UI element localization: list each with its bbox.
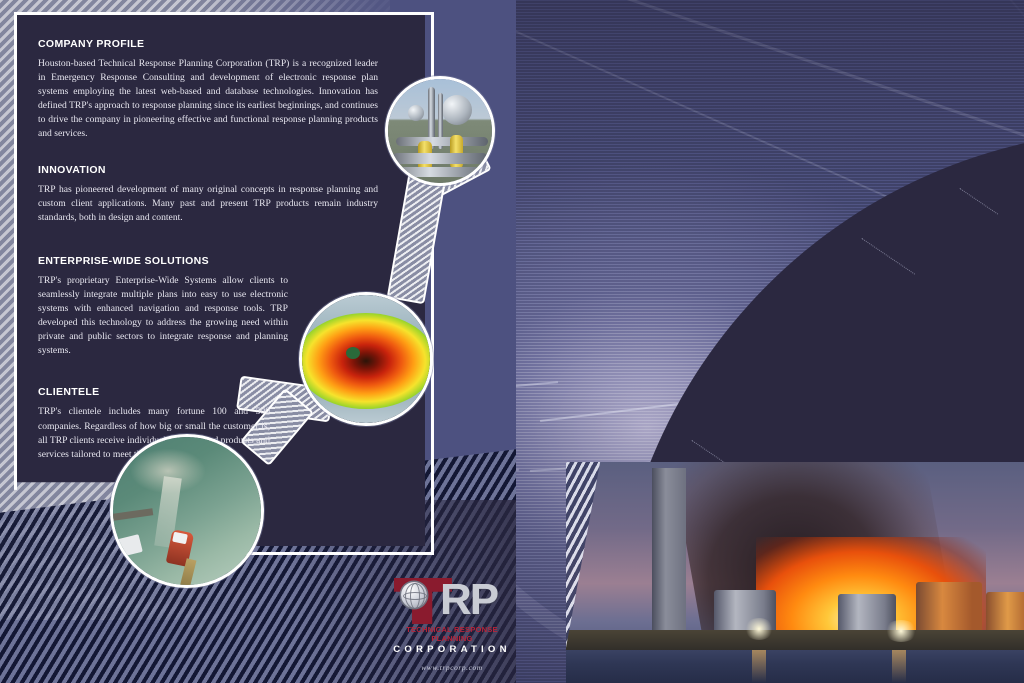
section-company-profile: COMPANY PROFILE Houston-based Technical … bbox=[38, 38, 378, 142]
shore-light-1 bbox=[744, 618, 774, 640]
photo-circle-hurricane-satellite bbox=[299, 292, 433, 426]
section-heading: ENTERPRISE-WIDE SOLUTIONS bbox=[38, 255, 378, 267]
section-body: TRP has pioneered development of many or… bbox=[38, 183, 378, 225]
section-innovation: INNOVATION TRP has pioneered development… bbox=[38, 164, 378, 225]
storm-eye bbox=[346, 347, 360, 359]
fire-water bbox=[566, 650, 1024, 683]
section-body: Houston-based Technical Response Plannin… bbox=[38, 57, 378, 142]
fire-process-tower bbox=[652, 468, 686, 633]
storm-radar-core bbox=[299, 313, 433, 409]
brochure-page: COMPANY PROFILE Houston-based Technical … bbox=[0, 0, 1024, 683]
shore-light-2 bbox=[884, 620, 918, 642]
dock-pier bbox=[113, 508, 154, 520]
logo-corporation: CORPORATION bbox=[388, 644, 516, 655]
horizontal-pipe-1 bbox=[396, 137, 488, 146]
section-heading: COMPANY PROFILE bbox=[38, 38, 378, 50]
logo-letters-rp: RP bbox=[440, 577, 497, 623]
photo-tank-farm-fire bbox=[566, 462, 1024, 683]
storage-sphere-2 bbox=[408, 105, 424, 121]
moored-boat bbox=[113, 534, 143, 558]
storage-tank-4 bbox=[986, 592, 1024, 634]
oil-spill-image bbox=[113, 437, 261, 585]
hurricane-image bbox=[302, 295, 430, 423]
fire-shoreline bbox=[566, 630, 1024, 652]
logo-mark: RP bbox=[388, 578, 516, 624]
section-heading: INNOVATION bbox=[38, 164, 378, 176]
photo-circle-oil-spill-response bbox=[110, 434, 264, 588]
storage-sphere-1 bbox=[442, 95, 472, 125]
section-body: TRP's proprietary Enterprise-Wide System… bbox=[38, 274, 288, 359]
photo-circle-refinery-piping bbox=[385, 76, 495, 186]
water-reflection-2 bbox=[892, 650, 906, 683]
refinery-image bbox=[388, 79, 492, 183]
logo-website-url[interactable]: www.trpcorp.com bbox=[388, 663, 516, 672]
storage-tank-3 bbox=[916, 582, 982, 634]
globe-icon bbox=[401, 582, 427, 608]
trp-logo[interactable]: RP TECHNICAL RESPONSE PLANNING CORPORATI… bbox=[388, 578, 516, 670]
horizontal-pipe-2 bbox=[392, 153, 488, 164]
water-reflection-1 bbox=[752, 650, 766, 683]
logo-tagline: TECHNICAL RESPONSE PLANNING bbox=[388, 625, 516, 643]
horizontal-pipe-3 bbox=[388, 167, 492, 177]
